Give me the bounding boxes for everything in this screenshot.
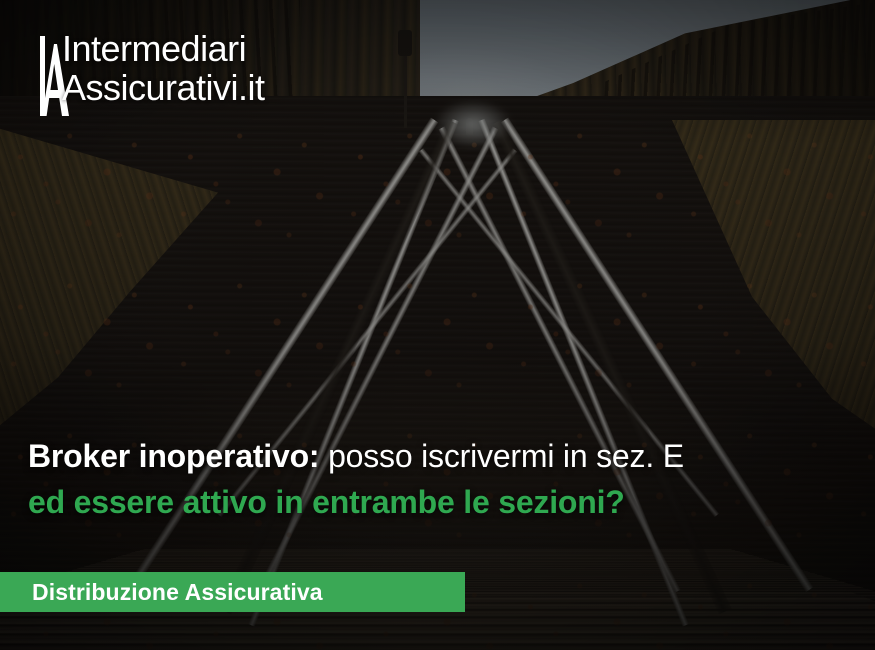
logo-line-2: Assicurativi.it (62, 69, 265, 106)
article-headline: Broker inoperativo: posso iscrivermi in … (28, 437, 863, 522)
category-banner[interactable]: Distribuzione Assicurativa (0, 572, 465, 612)
site-logo[interactable]: Intermediari Assicurativi.it (36, 30, 298, 122)
logo-wordmark: Intermediari Assicurativi.it (62, 30, 265, 107)
headline-line-1-rest: posso iscrivermi in sez. E (319, 438, 683, 474)
logo-line-1: Intermediari (62, 30, 265, 67)
headline-line-2: ed essere attivo in entrambe le sezioni? (28, 483, 863, 523)
category-label: Distribuzione Assicurativa (32, 579, 323, 606)
article-hero-banner: Intermediari Assicurativi.it Broker inop… (0, 0, 875, 650)
headline-line-1: Broker inoperativo: posso iscrivermi in … (28, 437, 863, 477)
headline-emphasis: Broker inoperativo: (28, 438, 319, 474)
